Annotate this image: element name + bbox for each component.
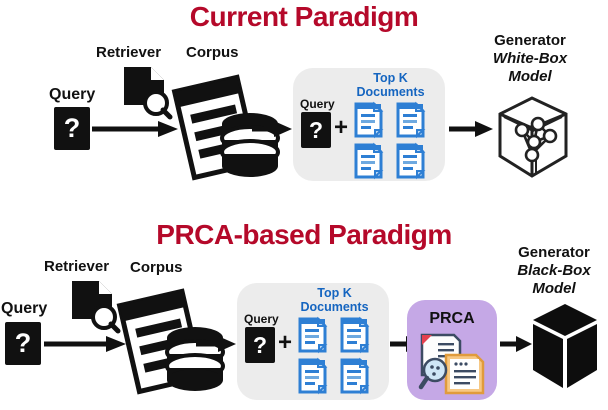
generator-type-line2-bottom: Model	[500, 281, 608, 297]
generator-label-bottom: Generator	[500, 245, 608, 261]
panel-title-current: Current Paradigm	[0, 1, 608, 33]
retriever-icon-bottom	[66, 279, 120, 333]
plus-sign-bottom: +	[278, 329, 292, 357]
query-box-bottom: ?	[5, 322, 41, 365]
arrow-corpus-to-context-bottom	[196, 335, 236, 353]
arrow-context-to-generator-top	[449, 120, 493, 138]
arrow-query-to-corpus-top	[92, 120, 178, 138]
document-icon	[339, 316, 371, 354]
generator-type-line1-bottom: Black-Box	[500, 263, 608, 279]
document-icon	[339, 357, 371, 395]
arrow-corpus-to-context-top	[252, 120, 292, 138]
topk-line2: Documents	[283, 301, 386, 315]
inner-query-label-bottom: Query	[244, 313, 279, 326]
document-icon	[395, 101, 427, 139]
document-icon	[353, 142, 385, 180]
retriever-icon-top	[118, 65, 172, 119]
document-icon	[395, 142, 427, 180]
inner-query-box-bottom: ?	[245, 327, 275, 363]
query-box-top: ?	[54, 107, 90, 150]
document-icon	[297, 357, 329, 395]
inner-query-label-top: Query	[300, 98, 335, 111]
topk-line1: Top K	[283, 287, 386, 301]
topk-label-bottom: Top K Documents	[283, 287, 386, 315]
corpus-label-bottom: Corpus	[130, 260, 183, 276]
document-icon	[297, 316, 329, 354]
generator-type-line2-top: Model	[460, 69, 600, 85]
plus-sign-top: +	[334, 114, 348, 142]
corpus-label-top: Corpus	[186, 45, 239, 61]
topk-line2: Documents	[338, 86, 443, 100]
query-label-bottom: Query	[1, 300, 47, 317]
figure-canvas: Current Paradigm Query ? Retriever Corpu…	[0, 0, 608, 410]
white-box-cube-icon	[492, 94, 574, 182]
topk-line1: Top K	[338, 72, 443, 86]
arrow-query-to-corpus-bottom	[44, 335, 126, 353]
prca-doc-magnifier-icon	[416, 331, 488, 399]
prca-label: PRCA	[407, 310, 497, 327]
retriever-label-bottom: Retriever	[44, 259, 109, 275]
document-icon	[353, 101, 385, 139]
retriever-label-top: Retriever	[96, 45, 161, 61]
query-label-top: Query	[49, 86, 95, 103]
inner-query-box-top: ?	[301, 112, 331, 148]
topk-label-top: Top K Documents	[338, 72, 443, 100]
generator-type-line1-top: White-Box	[460, 51, 600, 67]
generator-label-top: Generator	[460, 33, 600, 49]
black-box-cube-icon	[528, 302, 602, 394]
